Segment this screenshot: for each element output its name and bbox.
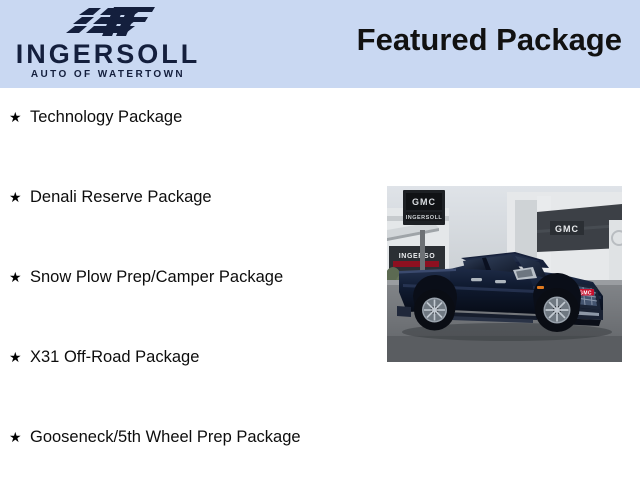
dealer-wordmark: INGERSOLL (8, 40, 208, 68)
slide-header: INGERSOLL AUTO OF WATERTOWN Featured Pac… (0, 0, 640, 88)
feature-package-list: ★ Technology Package ★ Denali Reserve Pa… (0, 100, 390, 500)
svg-text:GMC: GMC (579, 290, 592, 296)
star-icon: ★ (9, 350, 22, 364)
list-item: ★ Gooseneck/5th Wheel Prep Package (0, 420, 390, 500)
ingersoll-wing-logo-icon (56, 6, 156, 38)
list-item: ★ Denali Reserve Package (0, 180, 390, 260)
feature-label: X31 Off-Road Package (30, 346, 199, 368)
feature-label: Snow Plow Prep/Camper Package (30, 266, 283, 288)
dealer-logo: INGERSOLL AUTO OF WATERTOWN (8, 4, 208, 84)
star-icon: ★ (9, 190, 22, 204)
star-icon: ★ (9, 430, 22, 444)
svg-text:GMC: GMC (412, 197, 436, 207)
list-item: ★ Technology Package (0, 100, 390, 180)
feature-label: Technology Package (30, 106, 182, 128)
page-title: Featured Package (357, 22, 622, 58)
dealer-tagline: AUTO OF WATERTOWN (8, 69, 208, 81)
star-icon: ★ (9, 110, 22, 124)
star-icon: ★ (9, 270, 22, 284)
svg-text:INGERSO: INGERSO (399, 253, 435, 260)
feature-label: Denali Reserve Package (30, 186, 212, 208)
feature-label: Gooseneck/5th Wheel Prep Package (30, 426, 301, 448)
svg-text:INGERSOLL: INGERSOLL (406, 215, 443, 221)
gmc-denali-hd-pickup-photo: GMC INGERSO GMC INGERSOLL (387, 186, 622, 362)
list-item: ★ Snow Plow Prep/Camper Package (0, 260, 390, 340)
svg-text:GMC: GMC (555, 224, 579, 234)
list-item: ★ X31 Off-Road Package (0, 340, 390, 420)
